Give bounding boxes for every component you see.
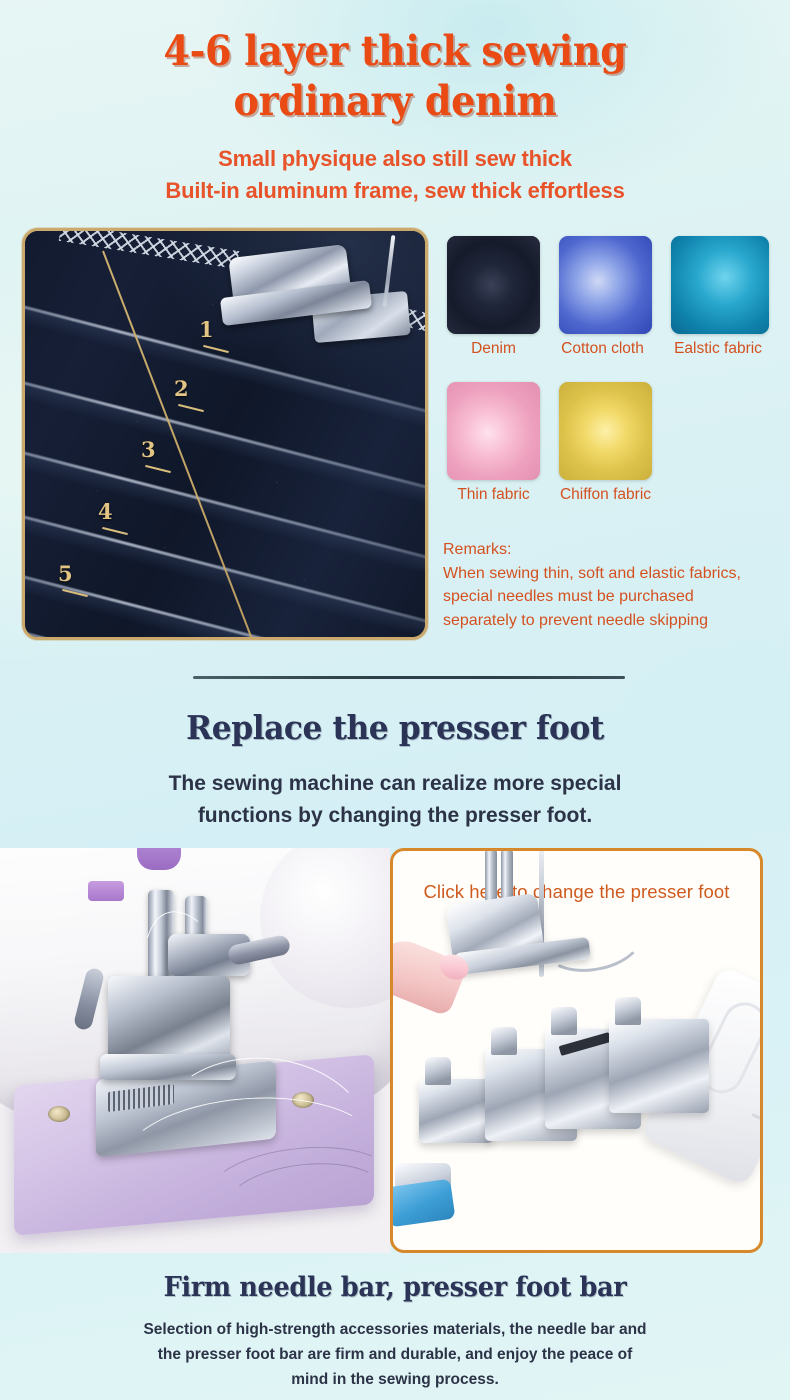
fabric-swatch-chiffon: Chiffon fabric: [559, 382, 652, 504]
presser-foot-item: [609, 1019, 709, 1113]
presser-section-desc-line-2: functions by changing the presser foot.: [0, 800, 790, 832]
remarks-block: Remarks: When sewing thin, soft and elas…: [443, 538, 788, 632]
layer-mark-5: 5: [58, 561, 88, 594]
footer-title: Firm needle bar, presser foot bar: [20, 1272, 771, 1303]
footer-desc-line-1: Selection of high-strength accessories m…: [120, 1317, 670, 1342]
elastic-swatch: [671, 236, 769, 334]
footer-desc-line-3: mind in the sewing process.: [120, 1367, 670, 1392]
purple-tab: [88, 881, 124, 901]
fabric-swatch-cotton: Cotton cloth: [559, 236, 652, 358]
remarks-line-2: special needles must be purchased: [443, 585, 788, 609]
layer-mark-label: 2: [174, 376, 189, 401]
presser-feet-photo-panel: Click here to change the presser foot: [390, 848, 763, 1253]
presser-section-title: Replace the presser foot: [20, 708, 771, 747]
remarks-heading: Remarks:: [443, 538, 788, 562]
hero-subtitle-1: Small physique also still sew thick: [0, 146, 790, 172]
plate-screw: [48, 1106, 70, 1122]
cotton-swatch: [559, 236, 652, 334]
denim-swatch: [447, 236, 540, 334]
click-here-label: Click here to change the presser foot: [393, 881, 760, 903]
layer-mark-label: 1: [199, 317, 214, 342]
hero-headline-line-1: 4-6 layer thick sewing: [28, 26, 763, 76]
denim-image: 1 2 3 4 5: [25, 231, 425, 637]
layer-mark-2: 2: [174, 376, 204, 409]
denim-layers-photo: 1 2 3 4 5: [22, 228, 428, 640]
hero-headline: 4-6 layer thick sewing ordinary denim: [28, 26, 763, 126]
sewing-machine-photo: [0, 848, 390, 1253]
layer-mark-3: 3: [141, 437, 171, 470]
hero-subtitle-2: Built-in aluminum frame, sew thick effor…: [0, 178, 790, 204]
fabric-swatch-label: Chiffon fabric: [559, 486, 652, 504]
fabric-swatch-label: Cotton cloth: [553, 340, 652, 358]
layer-mark-label: 3: [141, 437, 156, 462]
thin-swatch: [447, 382, 540, 480]
presser-foot-chrome: [217, 237, 407, 347]
presser-section-description: The sewing machine can realize more spec…: [0, 768, 790, 832]
hero-headline-line-2: ordinary denim: [28, 76, 763, 126]
layer-mark-4: 4: [98, 499, 128, 532]
fabric-swatch-thin: Thin fabric: [447, 382, 540, 504]
product-detail-page: 4-6 layer thick sewing ordinary denim Sm…: [0, 0, 790, 1400]
fabric-swatch-label: Thin fabric: [447, 486, 540, 504]
fabric-swatch-elastic: Ealstic fabric: [671, 236, 769, 358]
purple-knob: [137, 848, 181, 870]
presser-section-desc-line-1: The sewing machine can realize more spec…: [0, 768, 790, 800]
buttonhole-tick: [759, 1097, 763, 1105]
footer-desc-line-2: the presser foot bar are firm and durabl…: [120, 1342, 670, 1367]
buttonhole-tick: [751, 1113, 763, 1121]
chiffon-swatch: [559, 382, 652, 480]
fabric-swatch-denim: Denim: [447, 236, 540, 358]
layer-mark-label: 5: [58, 561, 73, 586]
footer-description: Selection of high-strength accessories m…: [120, 1317, 670, 1392]
fabric-swatch-label: Denim: [447, 340, 540, 358]
blue-plastic-foot: [390, 1179, 455, 1228]
section-divider: [193, 676, 625, 679]
remarks-line-1: When sewing thin, soft and elastic fabri…: [443, 562, 788, 586]
fabric-swatch-label: Ealstic fabric: [667, 340, 769, 358]
layer-mark-label: 4: [98, 499, 113, 524]
presser-foot-item: [419, 1079, 493, 1143]
layer-mark-1: 1: [199, 317, 229, 350]
remarks-line-3: separately to prevent needle skipping: [443, 609, 788, 633]
